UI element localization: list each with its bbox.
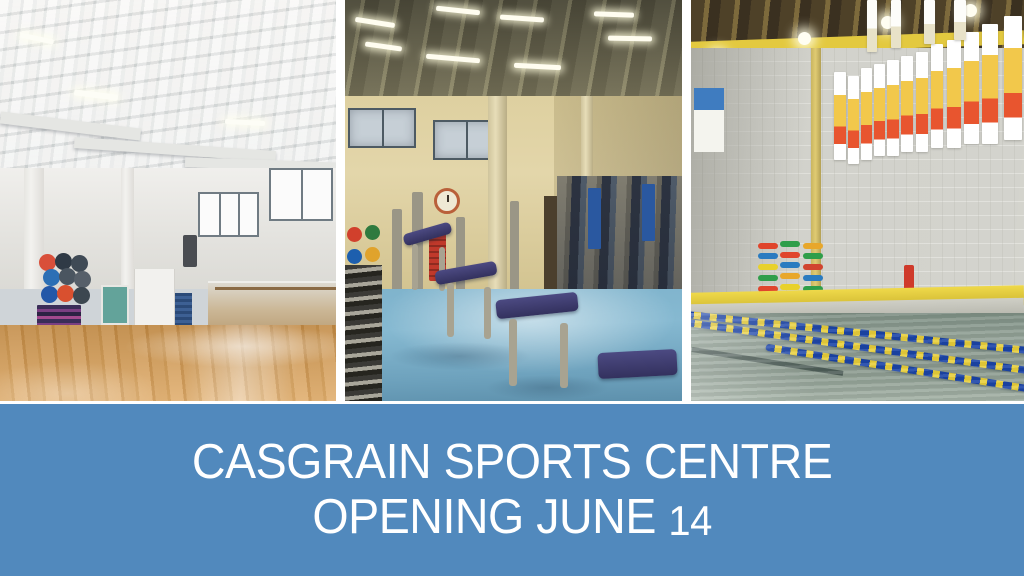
slide-title-line-1: CASGRAIN SPORTS CENTRE	[192, 435, 833, 490]
gym-blue-panel	[642, 184, 655, 240]
photo-fitness-gym	[345, 0, 682, 401]
studio-window	[269, 168, 333, 220]
gym-weight-bench	[594, 345, 682, 401]
title-banner: CASGRAIN SPORTS CENTRE OPENING JUNE 14	[0, 404, 1024, 576]
studio-door	[134, 269, 174, 333]
photo-swimming-pool	[691, 0, 1024, 401]
pool-lane-divider	[765, 343, 1024, 395]
gym-window	[348, 108, 415, 148]
gym-weight-bench	[487, 281, 602, 393]
pool-lane-divider	[691, 311, 1024, 354]
studio-window	[198, 192, 258, 236]
studio-wall-pillar	[121, 168, 134, 288]
slide-title-line-2-text: OPENING JUNE	[312, 490, 668, 544]
slide-title-day-number: 14	[668, 497, 711, 544]
slide-title: CASGRAIN SPORTS CENTRE OPENING JUNE 14	[192, 435, 833, 545]
pool-wall-sign	[694, 88, 724, 152]
studio-wall-speaker	[183, 235, 196, 267]
studio-ballet-barre	[215, 287, 336, 290]
studio-wooden-floor	[0, 325, 336, 401]
presentation-slide: CASGRAIN SPORTS CENTRE OPENING JUNE 14	[0, 0, 1024, 576]
pool-scene	[691, 0, 1024, 401]
pool-ceiling-light	[798, 32, 811, 45]
studio-green-wall-panel	[101, 285, 130, 325]
slide-title-line-2: OPENING JUNE 14	[192, 490, 833, 545]
gym-scene	[345, 0, 682, 401]
photo-activity-studio	[0, 0, 336, 401]
studio-scene	[0, 0, 336, 401]
gym-dumbbell-rack	[345, 265, 382, 401]
pool-lane-divider	[691, 319, 1024, 374]
photo-strip	[0, 0, 1024, 401]
pool-lane-marking	[692, 347, 844, 376]
gym-strip-light	[608, 36, 652, 42]
studio-ceiling	[0, 0, 336, 184]
studio-blue-mat-stack	[175, 293, 192, 329]
gym-blue-panel	[588, 188, 601, 248]
pool-water	[691, 313, 1024, 401]
